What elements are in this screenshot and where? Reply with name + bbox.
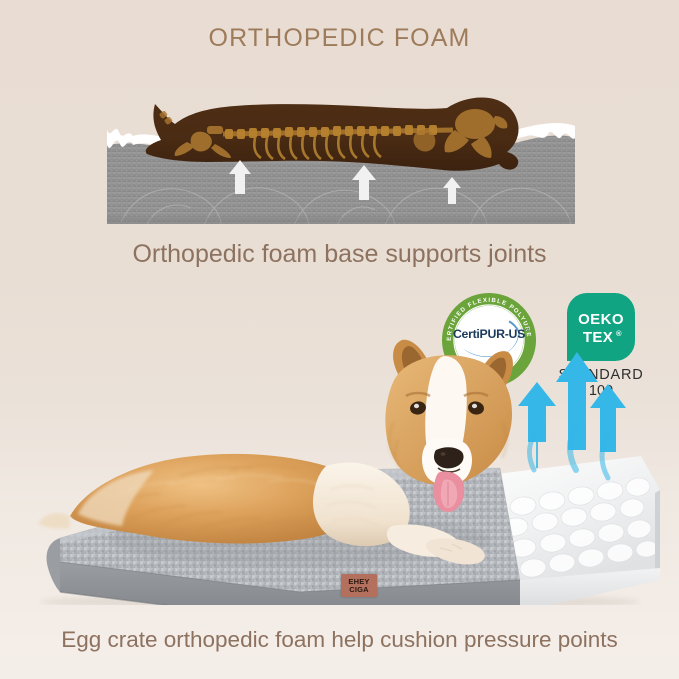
airflow-arrow-center xyxy=(556,352,598,470)
infographic-page: ORTHOPEDIC FOAM xyxy=(0,0,679,679)
dog-skeleton-silhouette xyxy=(146,97,519,170)
egg-crate-foam xyxy=(497,456,660,586)
airflow-arrow-left xyxy=(518,382,556,470)
eheyciga-brand-tag: EHEY CIGA xyxy=(341,574,377,597)
brand-tag-line-2: CIGA xyxy=(349,586,369,594)
dog-on-bed-scene xyxy=(0,330,679,605)
page-title: ORTHOPEDIC FOAM xyxy=(0,24,679,53)
oeko-line-1: OEKO xyxy=(578,311,624,328)
airflow-arrows xyxy=(518,352,626,478)
orthopedic-foam-cross-section xyxy=(103,82,579,234)
caption-orthopedic-support: Orthopedic foam base supports joints xyxy=(0,240,679,269)
caption-egg-crate-foam: Egg crate orthopedic foam help cushion p… xyxy=(0,627,679,653)
